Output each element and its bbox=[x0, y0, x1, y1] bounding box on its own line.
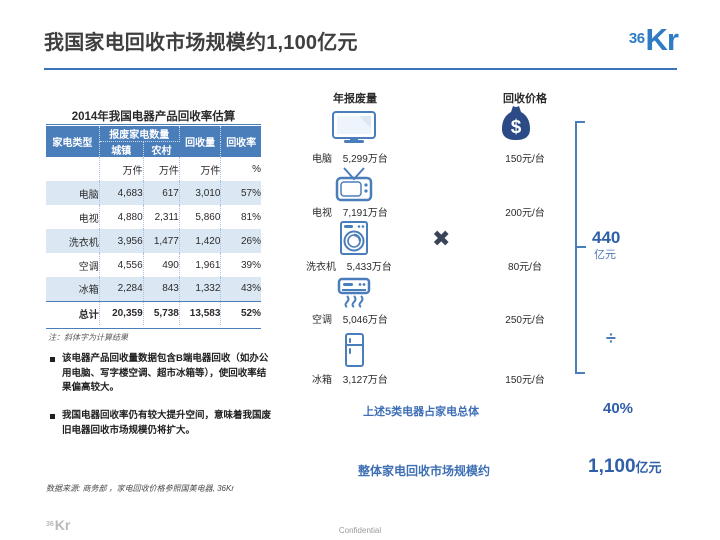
row-rural: 617 bbox=[143, 181, 179, 205]
row-amount: 1,332 bbox=[179, 277, 221, 301]
share-label: 上述5类电器占家电总体 bbox=[363, 403, 479, 419]
row-urban: 3,956 bbox=[99, 229, 143, 253]
unit-rate: % bbox=[221, 157, 261, 181]
table-head: 家电类型 报废家电数量 回收量 回收率 城镇 农村 bbox=[46, 126, 261, 157]
item-name: 电脑 bbox=[312, 150, 332, 165]
row-category: 电脑 bbox=[46, 181, 99, 205]
row-category: 电视 bbox=[46, 205, 99, 229]
unit-amount: 万件 bbox=[179, 157, 221, 181]
row-rate: 43% bbox=[221, 277, 261, 301]
item-volume: 5,433万台 bbox=[347, 258, 392, 273]
item-row-washer: 洗衣机 5,433万台 bbox=[306, 258, 392, 273]
item-name: 洗衣机 bbox=[306, 258, 336, 273]
table-row: 洗衣机 3,956 1,477 1,420 26% bbox=[46, 229, 261, 253]
aircon-icon bbox=[322, 276, 386, 315]
bullet-item: 我国电器回收率仍有较大提升空间，意味着我国废旧电器回收市场规模仍将扩大。 bbox=[50, 409, 275, 438]
th-rural: 农村 bbox=[143, 142, 179, 158]
svg-text:$: $ bbox=[511, 117, 522, 138]
bullet-list: 该电器产品回收量数据包含B端电器回收（如办公用电脑、写字楼空调、超市冰箱等），使… bbox=[50, 352, 275, 452]
washer-icon bbox=[322, 220, 386, 261]
row-amount: 1,420 bbox=[179, 229, 221, 253]
brand-logo-36kr: 36 Kr bbox=[629, 24, 678, 55]
item-row-aircon: 空调 5,046万台 bbox=[312, 311, 388, 326]
table-bottom-border bbox=[46, 328, 261, 329]
row-amount: 5,860 bbox=[179, 205, 221, 229]
item-row-fridge: 冰箱 3,127万台 bbox=[312, 371, 388, 386]
subtotal-unit: 亿元 bbox=[594, 246, 616, 262]
row-urban: 4,556 bbox=[99, 253, 143, 277]
total-rate: 52% bbox=[221, 301, 261, 325]
item-name: 电视 bbox=[312, 204, 332, 219]
brand-logo-prefix: 36 bbox=[629, 31, 645, 46]
row-rate: 39% bbox=[221, 253, 261, 277]
row-rural: 2,311 bbox=[143, 205, 179, 229]
row-amount: 3,010 bbox=[179, 181, 221, 205]
item-name: 冰箱 bbox=[312, 371, 332, 386]
item-row-computer: 电脑 5,299万台 bbox=[312, 150, 388, 165]
item-volume: 5,299万台 bbox=[343, 150, 388, 165]
th-urban: 城镇 bbox=[99, 142, 143, 158]
th-category: 家电类型 bbox=[46, 126, 99, 157]
item-price-aircon: 250元/台 bbox=[470, 311, 580, 326]
row-urban: 4,683 bbox=[99, 181, 143, 205]
unit-cat bbox=[46, 157, 99, 181]
bullet-item: 该电器产品回收量数据包含B端电器回收（如办公用电脑、写字楼空调、超市冰箱等），使… bbox=[50, 352, 275, 396]
bullet-text: 我国电器回收率仍有较大提升空间，意味着我国废旧电器回收市场规模仍将扩大。 bbox=[62, 409, 275, 438]
row-rate: 81% bbox=[221, 205, 261, 229]
table-title: 2014年我国电器产品回收率估算 bbox=[46, 108, 261, 124]
table-unit-row: 万件 万件 万件 % bbox=[46, 157, 261, 181]
th-amount: 回收量 bbox=[179, 126, 221, 157]
row-amount: 1,961 bbox=[179, 253, 221, 277]
total-urban: 20,359 bbox=[99, 301, 143, 325]
share-value: 40% bbox=[603, 400, 633, 417]
bullet-square-icon bbox=[50, 414, 55, 419]
money-bag-icon: $ bbox=[498, 103, 534, 148]
row-category: 空调 bbox=[46, 253, 99, 277]
title-divider bbox=[44, 68, 677, 70]
item-volume: 5,046万台 bbox=[343, 311, 388, 326]
table-note: 注：斜体字为计算结果 bbox=[48, 332, 128, 343]
table-body: 万件 万件 万件 % 电脑 4,683 617 3,010 57% 电视 4,8… bbox=[46, 157, 261, 325]
item-name: 空调 bbox=[312, 311, 332, 326]
market-size-unit: 亿元 bbox=[636, 460, 662, 475]
subtotal-value: 440 bbox=[592, 228, 620, 248]
row-rate: 57% bbox=[221, 181, 261, 205]
row-rural: 843 bbox=[143, 277, 179, 301]
item-price-computer: 150元/台 bbox=[470, 150, 580, 165]
confidential-label: Confidential bbox=[0, 526, 720, 535]
column-header-volume: 年报废量 bbox=[300, 90, 410, 106]
table-row: 空调 4,556 490 1,961 39% bbox=[46, 253, 261, 277]
total-label: 总计 bbox=[46, 301, 99, 325]
table-row: 冰箱 2,284 843 1,332 43% bbox=[46, 277, 261, 301]
tv-icon bbox=[322, 166, 386, 207]
divide-operator-icon: ÷ bbox=[606, 328, 616, 349]
grouping-bracket bbox=[572, 120, 594, 380]
page-title: 我国家电回收市场规模约1,100亿元 bbox=[44, 26, 358, 55]
table-header-row-1: 家电类型 报废家电数量 回收量 回收率 bbox=[46, 126, 261, 142]
fridge-icon bbox=[322, 332, 386, 373]
row-category: 洗衣机 bbox=[46, 229, 99, 253]
market-size-label: 整体家电回收市场规模约 bbox=[358, 462, 490, 479]
row-rural: 1,477 bbox=[143, 229, 179, 253]
row-rate: 26% bbox=[221, 229, 261, 253]
row-rural: 490 bbox=[143, 253, 179, 277]
item-price-tv: 200元/台 bbox=[470, 204, 580, 219]
bullet-square-icon bbox=[50, 357, 55, 362]
bullet-text: 该电器产品回收量数据包含B端电器回收（如办公用电脑、写字楼空调、超市冰箱等），使… bbox=[62, 352, 275, 396]
total-rural: 5,738 bbox=[143, 301, 179, 325]
th-scrap-group: 报废家电数量 bbox=[99, 126, 179, 142]
monitor-icon bbox=[322, 110, 386, 149]
row-category: 冰箱 bbox=[46, 277, 99, 301]
recycle-rate-table: 家电类型 报废家电数量 回收量 回收率 城镇 农村 万件 万件 万件 % 电脑 … bbox=[46, 126, 261, 325]
th-rate: 回收率 bbox=[221, 126, 261, 157]
item-row-tv: 电视 7,191万台 bbox=[312, 204, 388, 219]
table-row: 电脑 4,683 617 3,010 57% bbox=[46, 181, 261, 205]
unit-rural: 万件 bbox=[143, 157, 179, 181]
total-amount: 13,583 bbox=[179, 301, 221, 325]
row-urban: 2,284 bbox=[99, 277, 143, 301]
unit-urban: 万件 bbox=[99, 157, 143, 181]
item-price-fridge: 150元/台 bbox=[470, 371, 580, 386]
table-total-row: 总计 20,359 5,738 13,583 52% bbox=[46, 301, 261, 325]
item-price-washer: 80元/台 bbox=[470, 258, 580, 273]
table-row: 电视 4,880 2,311 5,860 81% bbox=[46, 205, 261, 229]
row-urban: 4,880 bbox=[99, 205, 143, 229]
item-volume: 3,127万台 bbox=[343, 371, 388, 386]
source-note: 数据来源: 商务部 ，家电回收价格参照国美电器, 36Kr bbox=[46, 483, 234, 494]
multiply-operator-icon: ✖ bbox=[432, 228, 450, 250]
market-size-number: 1,100 bbox=[588, 456, 636, 477]
slide-root: 我国家电回收市场规模约1,100亿元 36 Kr 2014年我国电器产品回收率估… bbox=[0, 0, 720, 540]
market-size-value: 1,100亿元 bbox=[588, 456, 662, 478]
item-volume: 7,191万台 bbox=[343, 204, 388, 219]
brand-logo-suffix: Kr bbox=[646, 24, 678, 55]
table-top-border bbox=[46, 124, 261, 125]
